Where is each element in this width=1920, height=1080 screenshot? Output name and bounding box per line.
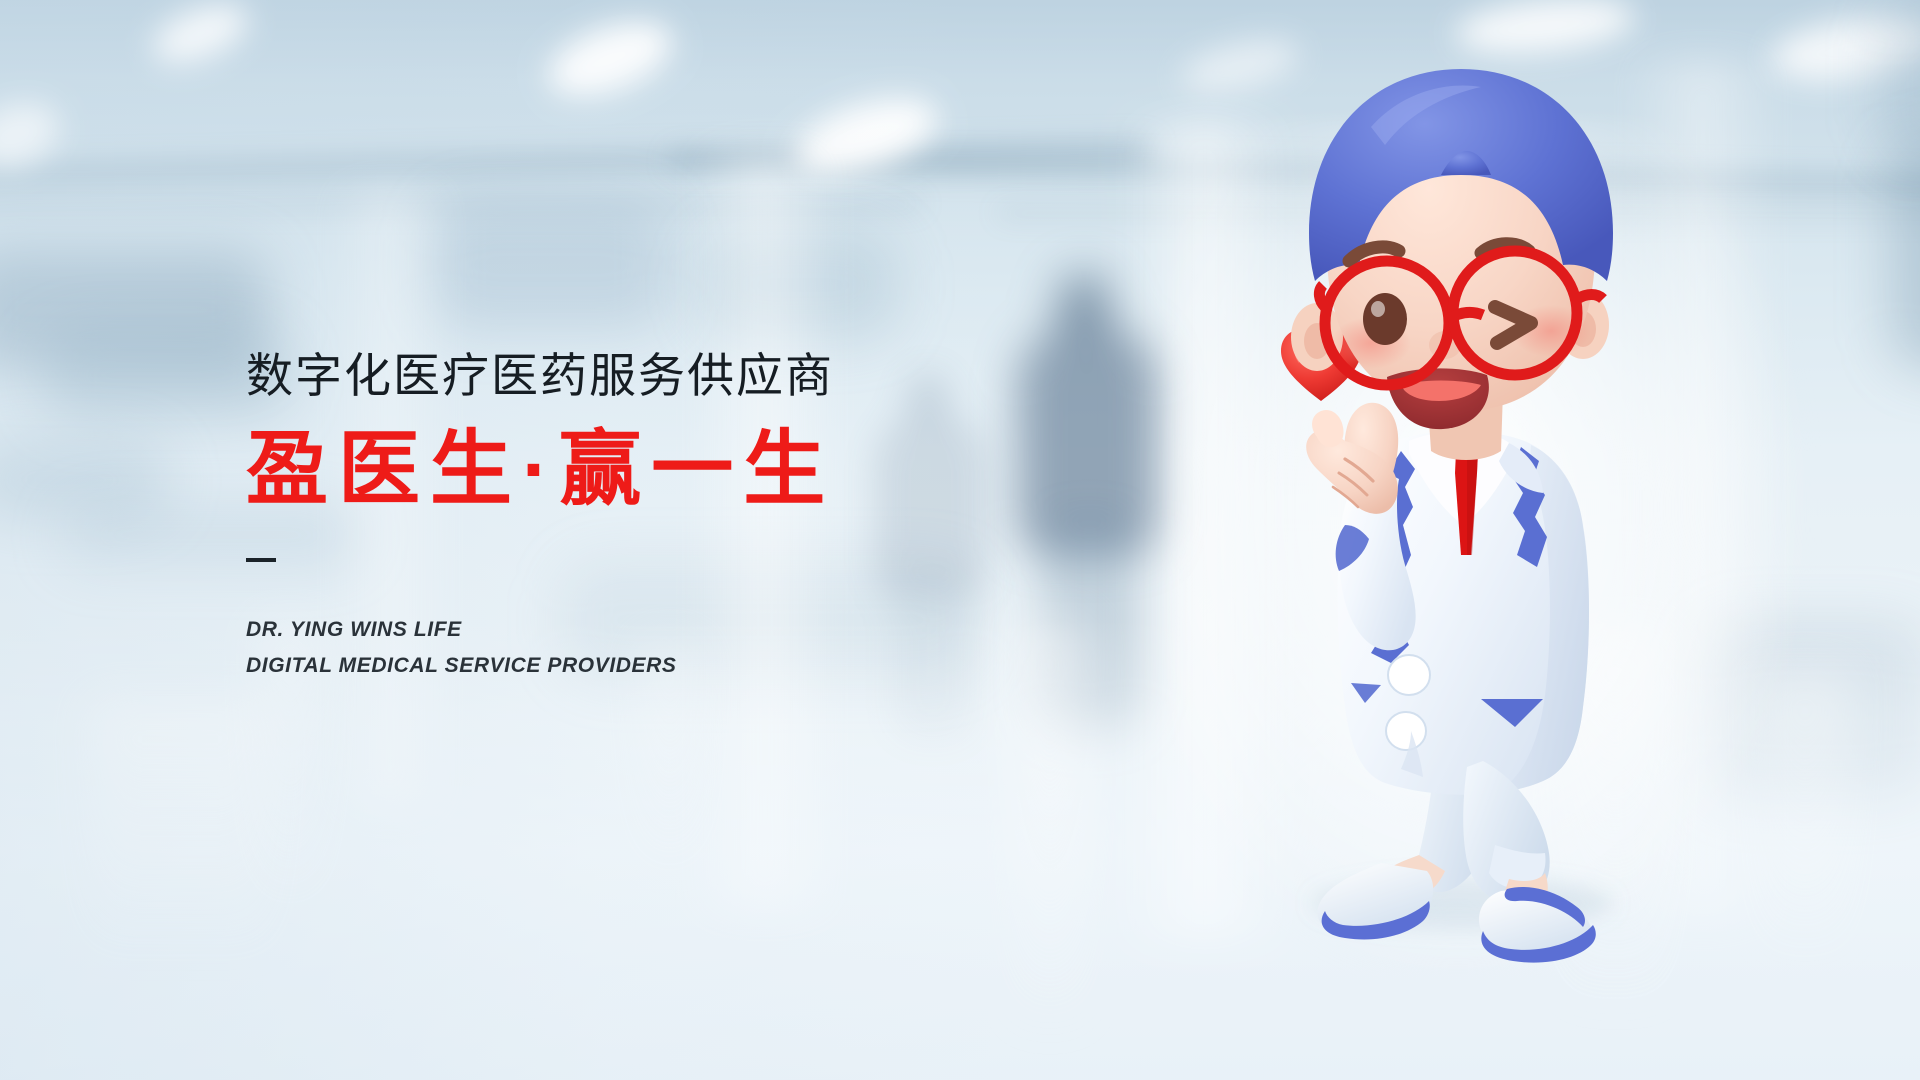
glasses-temple-right (1577, 295, 1603, 300)
background-blur-shape (1880, 0, 1920, 160)
subtitle-english-line-1: DR. YING WINS LIFE (246, 612, 1066, 648)
mascot-shoe-back (1317, 863, 1433, 939)
mascot-eye-open (1363, 293, 1407, 345)
background-blur-shape (1890, 140, 1920, 370)
glasses-temple-left (1319, 285, 1325, 307)
divider-rule (246, 558, 276, 562)
subtitle-english-line-2: DIGITAL MEDICAL SERVICE PROVIDERS (246, 648, 1066, 684)
page-slogan-chinese: 盈医生·赢一生 (246, 427, 1066, 514)
banner-copy-block: 数字化医疗医药服务供应商 盈医生·赢一生 DR. YING WINS LIFE … (246, 352, 1066, 684)
page-headline-chinese: 数字化医疗医药服务供应商 (246, 352, 1066, 399)
subtitle-english-block: DR. YING WINS LIFE DIGITAL MEDICAL SERVI… (246, 612, 1066, 684)
banner-stage: 数字化医疗医药服务供应商 盈医生·赢一生 DR. YING WINS LIFE … (0, 0, 1920, 1080)
glasses-bridge (1449, 312, 1483, 319)
doctor-mascot-illustration (1195, 55, 1755, 1055)
